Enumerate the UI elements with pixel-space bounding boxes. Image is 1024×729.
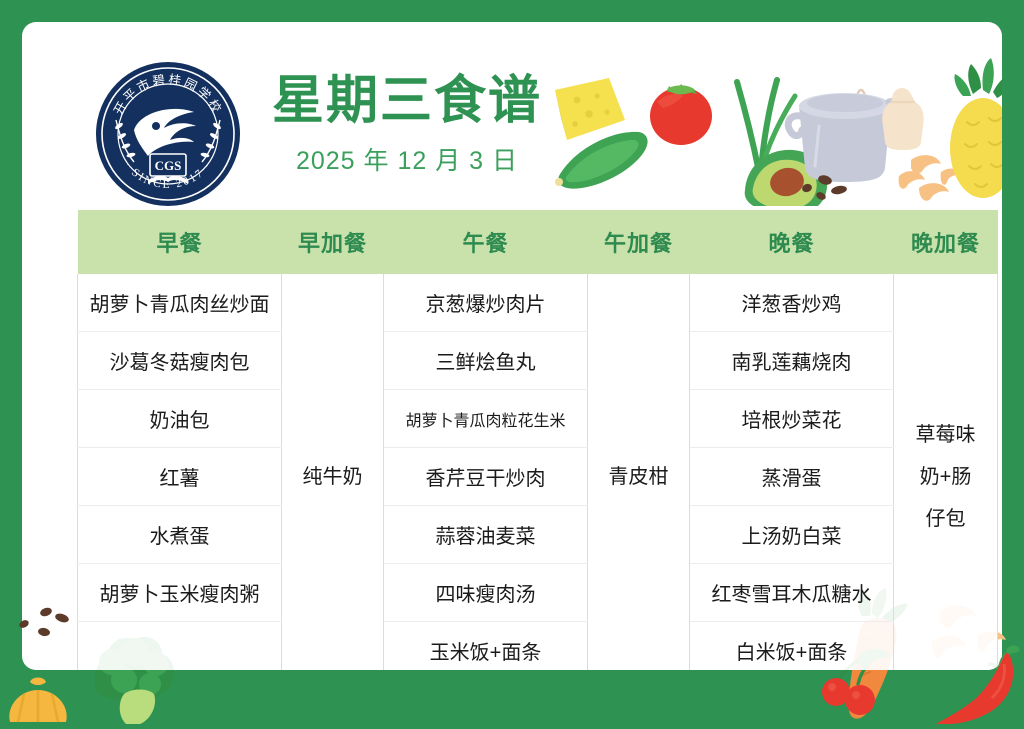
tomato-icon [650, 84, 712, 145]
table-row: 胡萝卜青瓜肉丝炒面 纯牛奶 京葱爆炒肉片 青皮柑 洋葱香炒鸡 草莓味 奶+肠 仔… [78, 274, 998, 332]
column-header-lunch: 午餐 [384, 210, 588, 274]
cell-lunch-2: 三鲜烩鱼丸 [384, 332, 588, 390]
white-panel: 开平市碧桂园学校 · SINCE 2017 · [22, 22, 1002, 670]
cell-dinner-1: 洋葱香炒鸡 [690, 274, 894, 332]
juicer-icon [9, 678, 66, 723]
cell-lunch-1: 京葱爆炒肉片 [384, 274, 588, 332]
evening-snack-line-1: 草莓味 [896, 414, 995, 456]
menu-table-wrap: 早餐 早加餐 午餐 午加餐 晚餐 晚加餐 胡萝卜青瓜肉丝炒面 纯牛奶 京葱爆炒肉… [77, 210, 997, 670]
column-header-dinner: 晚餐 [690, 210, 894, 274]
table-row: 水煮蛋 蒜蓉油麦菜 上汤奶白菜 [78, 506, 998, 564]
table-header-row: 早餐 早加餐 午餐 午加餐 晚餐 晚加餐 [78, 210, 998, 274]
cell-dinner-3: 培根炒菜花 [690, 390, 894, 448]
cell-morning-snack: 纯牛奶 [282, 274, 384, 670]
column-header-breakfast: 早餐 [78, 210, 282, 274]
evening-snack-line-3: 仔包 [896, 498, 995, 540]
cell-lunch-5: 蒜蓉油麦菜 [384, 506, 588, 564]
cell-dinner-6: 红枣雪耳木瓜糖水 [690, 564, 894, 622]
cell-breakfast-4: 红薯 [78, 448, 282, 506]
column-header-afternoon-snack: 午加餐 [588, 210, 690, 274]
recipe-poster: 开平市碧桂园学校 · SINCE 2017 · [0, 0, 1024, 724]
salt-shaker-icon [882, 88, 923, 150]
cell-breakfast-2: 沙葛冬菇瘦肉包 [78, 332, 282, 390]
top-food-illustrations [537, 56, 1002, 206]
cell-lunch-6: 四味瘦肉汤 [384, 564, 588, 622]
cell-evening-snack: 草莓味 奶+肠 仔包 [894, 274, 998, 670]
menu-table: 早餐 早加餐 午餐 午加餐 晚餐 晚加餐 胡萝卜青瓜肉丝炒面 纯牛奶 京葱爆炒肉… [77, 210, 998, 670]
table-row: 沙葛冬菇瘦肉包 三鲜烩鱼丸 南乳莲藕烧肉 [78, 332, 998, 390]
cell-afternoon-snack: 青皮柑 [588, 274, 690, 670]
page-date: 2025 年 12 月 3 日 [262, 141, 552, 177]
cell-dinner-2: 南乳莲藕烧肉 [690, 332, 894, 390]
column-header-morning-snack: 早加餐 [282, 210, 384, 274]
cell-lunch-7: 玉米饭+面条 [384, 622, 588, 671]
pineapple-icon [950, 58, 1002, 198]
school-logo: 开平市碧桂园学校 · SINCE 2017 · [94, 60, 242, 208]
cucumber-icon [555, 132, 648, 189]
evening-snack-line-2: 奶+肠 [896, 456, 995, 498]
table-row: 胡萝卜玉米瘦肉粥 四味瘦肉汤 红枣雪耳木瓜糖水 [78, 564, 998, 622]
cell-dinner-7: 白米饭+面条 [690, 622, 894, 671]
table-row: 奶油包 胡萝卜青瓜肉粒花生米 培根炒菜花 [78, 390, 998, 448]
cell-breakfast-6: 胡萝卜玉米瘦肉粥 [78, 564, 282, 622]
cell-lunch-3: 胡萝卜青瓜肉粒花生米 [384, 390, 588, 448]
page-title: 星期三食谱 [262, 74, 552, 129]
cell-breakfast-1: 胡萝卜青瓜肉丝炒面 [78, 274, 282, 332]
cell-lunch-4: 香芹豆干炒肉 [384, 448, 588, 506]
title-block: 星期三食谱 2025 年 12 月 3 日 [262, 74, 552, 177]
table-row: 玉米饭+面条 白米饭+面条 [78, 622, 998, 671]
cell-dinner-5: 上汤奶白菜 [690, 506, 894, 564]
cell-breakfast-7 [78, 622, 282, 671]
cheese-icon [555, 78, 625, 140]
table-row: 红薯 香芹豆干炒肉 蒸滑蛋 [78, 448, 998, 506]
svg-text:CGS: CGS [155, 158, 182, 173]
cell-breakfast-5: 水煮蛋 [78, 506, 282, 564]
cell-breakfast-3: 奶油包 [78, 390, 282, 448]
cell-dinner-4: 蒸滑蛋 [690, 448, 894, 506]
column-header-evening-snack: 晚加餐 [894, 210, 998, 274]
